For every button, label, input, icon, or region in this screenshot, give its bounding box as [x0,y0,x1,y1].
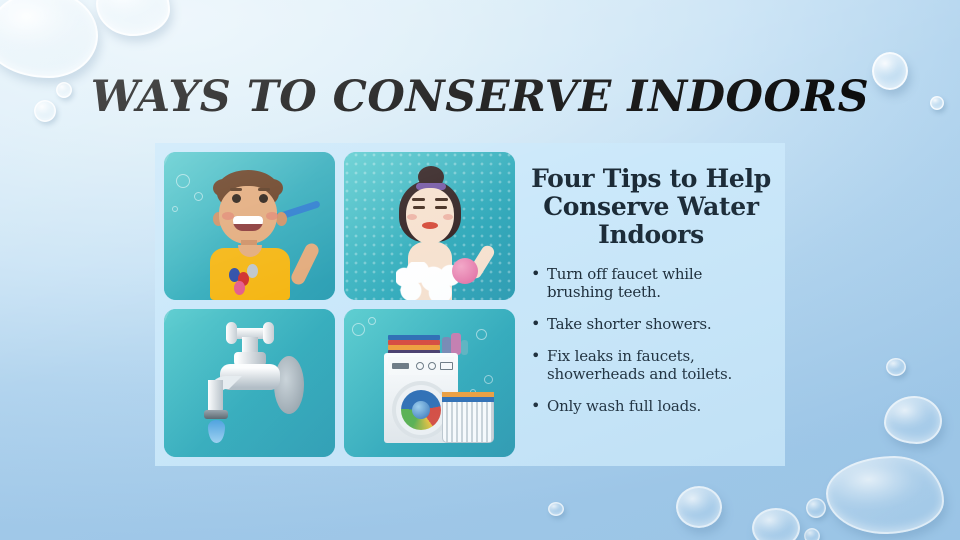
tips-list: Turn off faucet while brushing teeth. Ta… [531,265,771,429]
list-item: Take shorter showers. [531,315,771,333]
infographic-text-column: Four Tips to Help Conserve Water Indoors… [515,143,785,466]
panel-woman-showering [344,152,515,300]
faucet-illustration [190,328,310,438]
list-item: Fix leaks in faucets, showerheads and to… [531,347,771,383]
woman-illustration [374,166,486,300]
boy-illustration [191,168,309,300]
page-title: WAYS TO CONSERVE INDOORS [0,72,960,122]
panel-boy-brushing-teeth [164,152,335,300]
water-droplet [752,508,800,540]
washing-machine-illustration [368,331,492,443]
water-droplet [548,502,564,516]
infographic-card: Four Tips to Help Conserve Water Indoors… [155,143,785,466]
water-droplet [804,528,820,540]
water-droplet [676,486,722,528]
water-droplet [0,0,98,78]
water-droplet [884,396,942,444]
list-item: Turn off faucet while brushing teeth. [531,265,771,301]
water-droplet [826,456,944,534]
panel-dripping-faucet [164,309,335,457]
water-droplet [886,358,906,376]
infographic-heading: Four Tips to Help Conserve Water Indoors [531,165,771,249]
slide-background: WAYS TO CONSERVE INDOORS [0,0,960,540]
panel-washing-machine [344,309,515,457]
water-droplet [806,498,826,518]
infographic-image-grid [155,143,515,466]
water-droplet [96,0,170,36]
list-item: Only wash full loads. [531,397,771,415]
